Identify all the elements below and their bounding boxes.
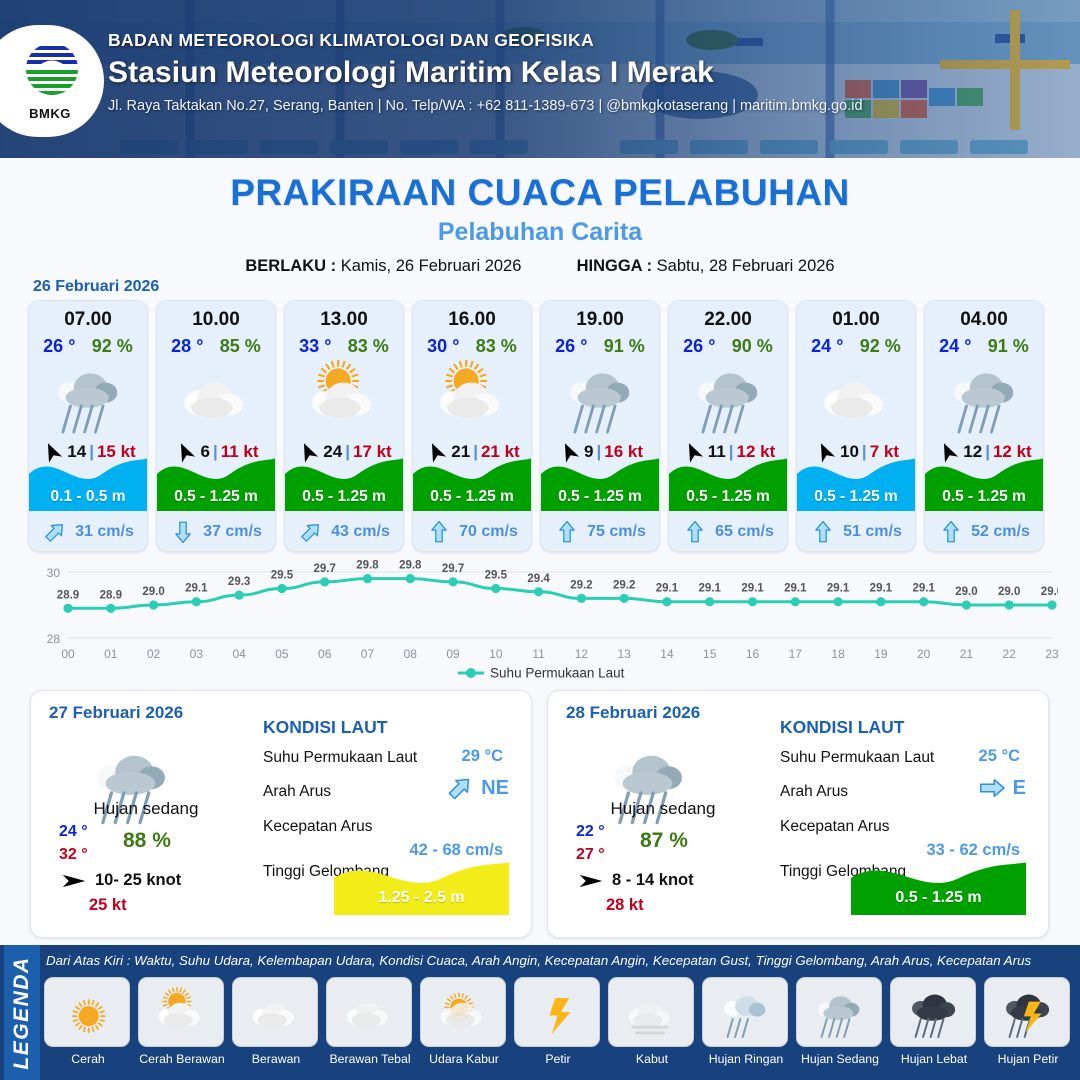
- legend-item: Udara Kabur: [420, 977, 508, 1066]
- berawan-icon: [170, 350, 262, 442]
- svg-text:14: 14: [660, 647, 674, 661]
- svg-text:29.5: 29.5: [485, 570, 508, 582]
- svg-text:05: 05: [275, 647, 289, 661]
- card-weather-icon: [541, 359, 659, 433]
- svg-text:20: 20: [917, 647, 931, 661]
- legend-side-label: LEGENDA: [10, 956, 34, 1069]
- hourly-card[interactable]: 16.00 30 ° 83 % 21 | 21 kt 0.5 - 1.25 m …: [412, 300, 532, 552]
- svg-text:29.7: 29.7: [442, 563, 464, 575]
- cerah-icon: [55, 980, 119, 1044]
- svg-text:29.3: 29.3: [228, 576, 250, 588]
- card-current-row: 70 cm/s: [413, 519, 531, 545]
- legend-item-label: Kabut: [608, 1052, 696, 1066]
- legend-icon-cell: [138, 977, 224, 1047]
- cerah-berawan-icon: [149, 980, 213, 1044]
- svg-text:02: 02: [147, 647, 161, 661]
- legend-icon-cell: [514, 977, 600, 1047]
- legend-item: Kabut: [608, 977, 696, 1066]
- card-current-speed: 52 cm/s: [971, 523, 1030, 541]
- svg-text:29.2: 29.2: [613, 579, 635, 591]
- card-wave-height: 0.1 - 0.5 m: [29, 488, 147, 506]
- svg-text:17: 17: [789, 647, 803, 661]
- panel-date: 27 Februari 2026: [49, 703, 183, 723]
- legend-footer: LEGENDA Dari Atas Kiri : Waktu, Suhu Uda…: [0, 945, 1080, 1080]
- berawan-icon: [243, 980, 307, 1044]
- panel-sea-title: KONDISI LAUT: [780, 717, 904, 738]
- hujan-ringan-icon: [713, 980, 777, 1044]
- legend-item-label: Hujan Lebat: [890, 1052, 978, 1066]
- panel-current-dir-row: NE: [445, 773, 509, 803]
- legend-items: Cerah Cerah Berawan Berawan Berawan Teba…: [44, 977, 1074, 1066]
- hourly-forecast-row: 07.00 26 ° 92 % 14 | 15 kt 0.1 - 0.5 m 3…: [28, 300, 1052, 552]
- card-wave-zone: 0.5 - 1.25 m: [157, 447, 275, 511]
- hujan-lebat-icon: [901, 980, 965, 1044]
- hujan-petir-icon: [995, 980, 1059, 1044]
- svg-text:29.1: 29.1: [912, 583, 935, 595]
- card-time: 19.00: [541, 309, 659, 331]
- svg-text:23: 23: [1045, 647, 1058, 661]
- agency-name: BADAN METEOROLOGI KLIMATOLOGI DAN GEOFIS…: [108, 30, 863, 51]
- svg-text:28: 28: [47, 632, 61, 646]
- chart-legend-label: Suhu Permukaan Laut: [490, 665, 624, 680]
- hujan-sedang-icon: [682, 350, 774, 442]
- card-current-speed: 37 cm/s: [203, 523, 262, 541]
- card-current-speed: 75 cm/s: [587, 523, 646, 541]
- legend-icon-cell: [890, 977, 976, 1047]
- panel-humidity: 87 %: [640, 829, 688, 853]
- hujan-sedang-icon: [807, 980, 871, 1044]
- panel-current-dir-value: NE: [481, 777, 509, 800]
- card-time: 22.00: [669, 309, 787, 331]
- hujan-sedang-icon: [42, 350, 134, 442]
- panel-weather-icon: [79, 729, 184, 839]
- panel-humidity: 88 %: [123, 829, 171, 853]
- sst-chart: 302828.90028.90129.00229.10329.30429.505…: [22, 560, 1058, 680]
- cerah-berawan-icon: [298, 350, 390, 442]
- card-weather-icon: [925, 359, 1043, 433]
- card-current-speed: 70 cm/s: [459, 523, 518, 541]
- svg-text:29.1: 29.1: [827, 583, 850, 595]
- hourly-card[interactable]: 07.00 26 ° 92 % 14 | 15 kt 0.1 - 0.5 m 3…: [28, 300, 148, 552]
- svg-text:29.0: 29.0: [955, 586, 977, 598]
- bmkg-emblem-icon: [21, 42, 83, 100]
- legend-icon-cell: [608, 977, 694, 1047]
- valid-from-label: BERLAKU :: [245, 257, 336, 275]
- panel-sst-value: 25 °C: [979, 747, 1020, 766]
- hujan-sedang-icon: [938, 350, 1030, 442]
- hourly-card[interactable]: 13.00 33 ° 83 % 24 | 17 kt 0.5 - 1.25 m …: [284, 300, 404, 552]
- card-time: 13.00: [285, 309, 403, 331]
- card-time: 01.00: [797, 309, 915, 331]
- panel-weather-icon: [596, 729, 701, 839]
- svg-text:29.7: 29.7: [314, 563, 336, 575]
- card-wave-height: 0.5 - 1.25 m: [413, 488, 531, 506]
- title-block: PRAKIRAAN CUACA PELABUHAN Pelabuhan Cari…: [0, 158, 1080, 276]
- contact-info: Jl. Raya Taktakan No.27, Serang, Banten …: [108, 98, 863, 114]
- daily-panel[interactable]: 27 Februari 2026 Hujan sedang 24 ° 32 ° …: [30, 690, 532, 938]
- legend-item: Cerah: [44, 977, 132, 1066]
- valid-from-value: Kamis, 26 Februari 2026: [341, 257, 522, 275]
- chart-legend: Suhu Permukaan Laut: [0, 664, 1080, 682]
- legend-icon-cell: [984, 977, 1070, 1047]
- svg-text:29.5: 29.5: [271, 570, 294, 582]
- svg-text:29.1: 29.1: [656, 583, 679, 595]
- card-wave-zone: 0.5 - 1.25 m: [669, 447, 787, 511]
- wind-direction-arrow-icon: [578, 872, 604, 890]
- current-direction-arrow-icon: [682, 519, 708, 545]
- card-wave-zone: 0.5 - 1.25 m: [925, 447, 1043, 511]
- legend-item: Hujan Sedang: [796, 977, 884, 1066]
- hourly-card[interactable]: 04.00 24 ° 91 % 12 | 12 kt 0.5 - 1.25 m …: [924, 300, 1044, 552]
- panel-wind-row: 10- 25 knot: [61, 871, 181, 890]
- panel-gust: 28 kt: [606, 896, 644, 915]
- svg-text:10: 10: [489, 647, 503, 661]
- legend-icon-cell: [326, 977, 412, 1047]
- panel-current-dir-label: Arah Arus: [263, 783, 331, 801]
- kabut-icon: [619, 980, 683, 1044]
- svg-text:22: 22: [1003, 647, 1017, 661]
- card-wave-height: 0.5 - 1.25 m: [669, 488, 787, 506]
- legend-item: Petir: [514, 977, 602, 1066]
- svg-text:29.1: 29.1: [870, 583, 893, 595]
- svg-text:06: 06: [318, 647, 332, 661]
- svg-text:19: 19: [874, 647, 888, 661]
- card-weather-icon: [285, 359, 403, 433]
- card-wave-height: 0.5 - 1.25 m: [797, 488, 915, 506]
- svg-text:29.8: 29.8: [399, 560, 422, 572]
- legend-item-label: Petir: [514, 1052, 602, 1066]
- svg-text:12: 12: [575, 647, 589, 661]
- svg-text:28.9: 28.9: [100, 589, 122, 601]
- card-current-row: 37 cm/s: [157, 519, 275, 545]
- panel-current-speed-label: Kecepatan Arus: [780, 818, 889, 836]
- panel-temp-min: 22 °: [576, 823, 605, 841]
- current-direction-arrow-icon: [170, 519, 196, 545]
- current-direction-arrow-icon: [42, 519, 68, 545]
- svg-text:29.8: 29.8: [356, 560, 379, 572]
- card-wave-height: 0.5 - 1.25 m: [285, 488, 403, 506]
- legend-item-label: Cerah Berawan: [138, 1052, 226, 1066]
- card-weather-icon: [797, 359, 915, 433]
- svg-text:01: 01: [104, 647, 118, 661]
- berawan-icon: [810, 350, 902, 442]
- current-direction-arrow-icon: [554, 519, 580, 545]
- legend-icon-cell: [232, 977, 318, 1047]
- panel-current-dir-row: E: [977, 773, 1026, 803]
- bmkg-logo-text: BMKG: [21, 106, 79, 121]
- svg-text:13: 13: [617, 647, 631, 661]
- svg-text:29.1: 29.1: [741, 583, 764, 595]
- forecast-day-label: 26 Februari 2026: [33, 278, 159, 296]
- svg-text:03: 03: [190, 647, 204, 661]
- current-direction-arrow-icon: [938, 519, 964, 545]
- station-name: Stasiun Meteorologi Maritim Kelas I Mera…: [108, 56, 863, 90]
- legend-item-label: Hujan Sedang: [796, 1052, 884, 1066]
- petir-icon: [525, 980, 589, 1044]
- svg-text:29.1: 29.1: [699, 583, 722, 595]
- panel-sst-label: Suhu Permukaan Laut: [780, 749, 934, 767]
- panel-wind-speed: 10- 25 knot: [95, 871, 181, 890]
- daily-panel[interactable]: 28 Februari 2026 Hujan sedang 22 ° 27 ° …: [547, 690, 1049, 938]
- daily-forecast-panels: 27 Februari 2026 Hujan sedang 24 ° 32 ° …: [30, 690, 1050, 938]
- panel-current-dir-value: E: [1013, 777, 1026, 800]
- legend-item-label: Berawan Tebal: [326, 1052, 414, 1066]
- hourly-card[interactable]: 19.00 26 ° 91 % 9 | 16 kt 0.5 - 1.25 m 7…: [540, 300, 660, 552]
- validity-row: BERLAKU : Kamis, 26 Februari 2026 HINGGA…: [0, 257, 1080, 276]
- legend-marker-icon: [456, 667, 486, 679]
- valid-until-label: HINGGA :: [577, 257, 652, 275]
- panel-wind-speed: 8 - 14 knot: [612, 871, 694, 890]
- svg-text:21: 21: [960, 647, 974, 661]
- card-time: 10.00: [157, 309, 275, 331]
- card-current-row: 52 cm/s: [925, 519, 1043, 545]
- svg-text:29.1: 29.1: [784, 583, 807, 595]
- panel-current-speed-label: Kecepatan Arus: [263, 818, 372, 836]
- panel-date: 28 Februari 2026: [566, 703, 700, 723]
- page-title: PRAKIRAAN CUACA PELABUHAN: [0, 172, 1080, 214]
- valid-until-value: Sabtu, 28 Februari 2026: [657, 257, 835, 275]
- hourly-card[interactable]: 01.00 24 ° 92 % 10 | 7 kt 0.5 - 1.25 m 5…: [796, 300, 916, 552]
- panel-condition: Hujan sedang: [563, 799, 763, 819]
- current-direction-arrow-icon: [426, 519, 452, 545]
- legend-item-label: Hujan Petir: [984, 1052, 1072, 1066]
- hourly-card[interactable]: 22.00 26 ° 90 % 11 | 12 kt 0.5 - 1.25 m …: [668, 300, 788, 552]
- panel-wave-box: 1.25 - 2.5 m: [334, 853, 509, 915]
- svg-text:29.0: 29.0: [998, 586, 1020, 598]
- panel-wave-value: 1.25 - 2.5 m: [334, 889, 509, 907]
- panel-temp-min: 24 °: [59, 823, 88, 841]
- card-wave-zone: 0.5 - 1.25 m: [541, 447, 659, 511]
- panel-wave-box: 0.5 - 1.25 m: [851, 853, 1026, 915]
- svg-text:30: 30: [47, 566, 61, 580]
- legend-item-label: Udara Kabur: [420, 1052, 508, 1066]
- legend-icon-cell: [44, 977, 130, 1047]
- berawan-tebal-icon: [337, 980, 401, 1044]
- svg-text:11: 11: [532, 647, 545, 661]
- svg-text:29.0: 29.0: [1041, 586, 1058, 598]
- legend-icon-cell: [702, 977, 788, 1047]
- card-time: 16.00: [413, 309, 531, 331]
- card-current-row: 75 cm/s: [541, 519, 659, 545]
- card-wave-zone: 0.1 - 0.5 m: [29, 447, 147, 511]
- card-current-row: 31 cm/s: [29, 519, 147, 545]
- card-wave-zone: 0.5 - 1.25 m: [285, 447, 403, 511]
- panel-sea-title: KONDISI LAUT: [263, 717, 387, 738]
- svg-text:29.1: 29.1: [185, 583, 208, 595]
- weather-infographic: BMKG BADAN METEOROLOGI KLIMATOLOGI DAN G…: [0, 0, 1080, 1080]
- svg-text:04: 04: [232, 647, 246, 661]
- panel-gust: 25 kt: [89, 896, 127, 915]
- legend-item: Berawan: [232, 977, 320, 1066]
- panel-wave-value: 0.5 - 1.25 m: [851, 889, 1026, 907]
- legend-item-label: Cerah: [44, 1052, 132, 1066]
- legend-icon-cell: [420, 977, 506, 1047]
- legend-icon-cell: [796, 977, 882, 1047]
- panel-sst-label: Suhu Permukaan Laut: [263, 749, 417, 767]
- legend-item-label: Hujan Ringan: [702, 1052, 790, 1066]
- hujan-sedang-icon: [554, 350, 646, 442]
- card-time: 07.00: [29, 309, 147, 331]
- panel-wind-row: 8 - 14 knot: [578, 871, 694, 890]
- current-direction-arrow-icon: [298, 519, 324, 545]
- card-current-speed: 31 cm/s: [75, 523, 134, 541]
- legend-item: Berawan Tebal: [326, 977, 414, 1066]
- legend-item: Hujan Lebat: [890, 977, 978, 1066]
- legend-item: Hujan Petir: [984, 977, 1072, 1066]
- svg-text:16: 16: [746, 647, 760, 661]
- panel-condition: Hujan sedang: [46, 799, 246, 819]
- port-name: Pelabuhan Carita: [0, 218, 1080, 247]
- svg-text:09: 09: [446, 647, 460, 661]
- page-header: BMKG BADAN METEOROLOGI KLIMATOLOGI DAN G…: [0, 0, 1080, 158]
- panel-current-dir-label: Arah Arus: [780, 783, 848, 801]
- svg-text:07: 07: [361, 647, 375, 661]
- udara-kabur-icon: [431, 980, 495, 1044]
- panel-sst-value: 29 °C: [462, 747, 503, 766]
- card-weather-icon: [29, 359, 147, 433]
- panel-temp-max: 27 °: [576, 846, 605, 864]
- wind-direction-arrow-icon: [61, 872, 87, 890]
- card-current-row: 43 cm/s: [285, 519, 403, 545]
- hourly-card[interactable]: 10.00 28 ° 85 % 6 | 11 kt 0.5 - 1.25 m 3…: [156, 300, 276, 552]
- panel-temp-max: 32 °: [59, 846, 88, 864]
- legend-item: Hujan Ringan: [702, 977, 790, 1066]
- card-time: 04.00: [925, 309, 1043, 331]
- svg-text:28.9: 28.9: [57, 589, 79, 601]
- card-wave-zone: 0.5 - 1.25 m: [413, 447, 531, 511]
- current-direction-arrow-icon: [810, 519, 836, 545]
- legend-side-banner: LEGENDA: [4, 945, 40, 1080]
- legend-item-label: Berawan: [232, 1052, 320, 1066]
- svg-text:29.0: 29.0: [142, 586, 164, 598]
- cerah-berawan-icon: [426, 350, 518, 442]
- card-wave-height: 0.5 - 1.25 m: [541, 488, 659, 506]
- card-current-row: 65 cm/s: [669, 519, 787, 545]
- card-weather-icon: [669, 359, 787, 433]
- card-weather-icon: [157, 359, 275, 433]
- current-direction-arrow-icon: [445, 773, 475, 803]
- svg-text:08: 08: [404, 647, 418, 661]
- card-weather-icon: [413, 359, 531, 433]
- svg-text:00: 00: [61, 647, 75, 661]
- svg-text:29.4: 29.4: [527, 573, 550, 585]
- card-current-speed: 43 cm/s: [331, 523, 390, 541]
- card-current-row: 51 cm/s: [797, 519, 915, 545]
- card-current-speed: 65 cm/s: [715, 523, 774, 541]
- legend-note: Dari Atas Kiri : Waktu, Suhu Udara, Kele…: [46, 953, 1031, 968]
- card-wave-height: 0.5 - 1.25 m: [157, 488, 275, 506]
- svg-text:15: 15: [703, 647, 717, 661]
- card-wave-zone: 0.5 - 1.25 m: [797, 447, 915, 511]
- svg-text:29.2: 29.2: [570, 579, 592, 591]
- svg-text:18: 18: [831, 647, 845, 661]
- current-direction-arrow-icon: [977, 773, 1007, 803]
- legend-item: Cerah Berawan: [138, 977, 226, 1066]
- card-current-speed: 51 cm/s: [843, 523, 902, 541]
- card-wave-height: 0.5 - 1.25 m: [925, 488, 1043, 506]
